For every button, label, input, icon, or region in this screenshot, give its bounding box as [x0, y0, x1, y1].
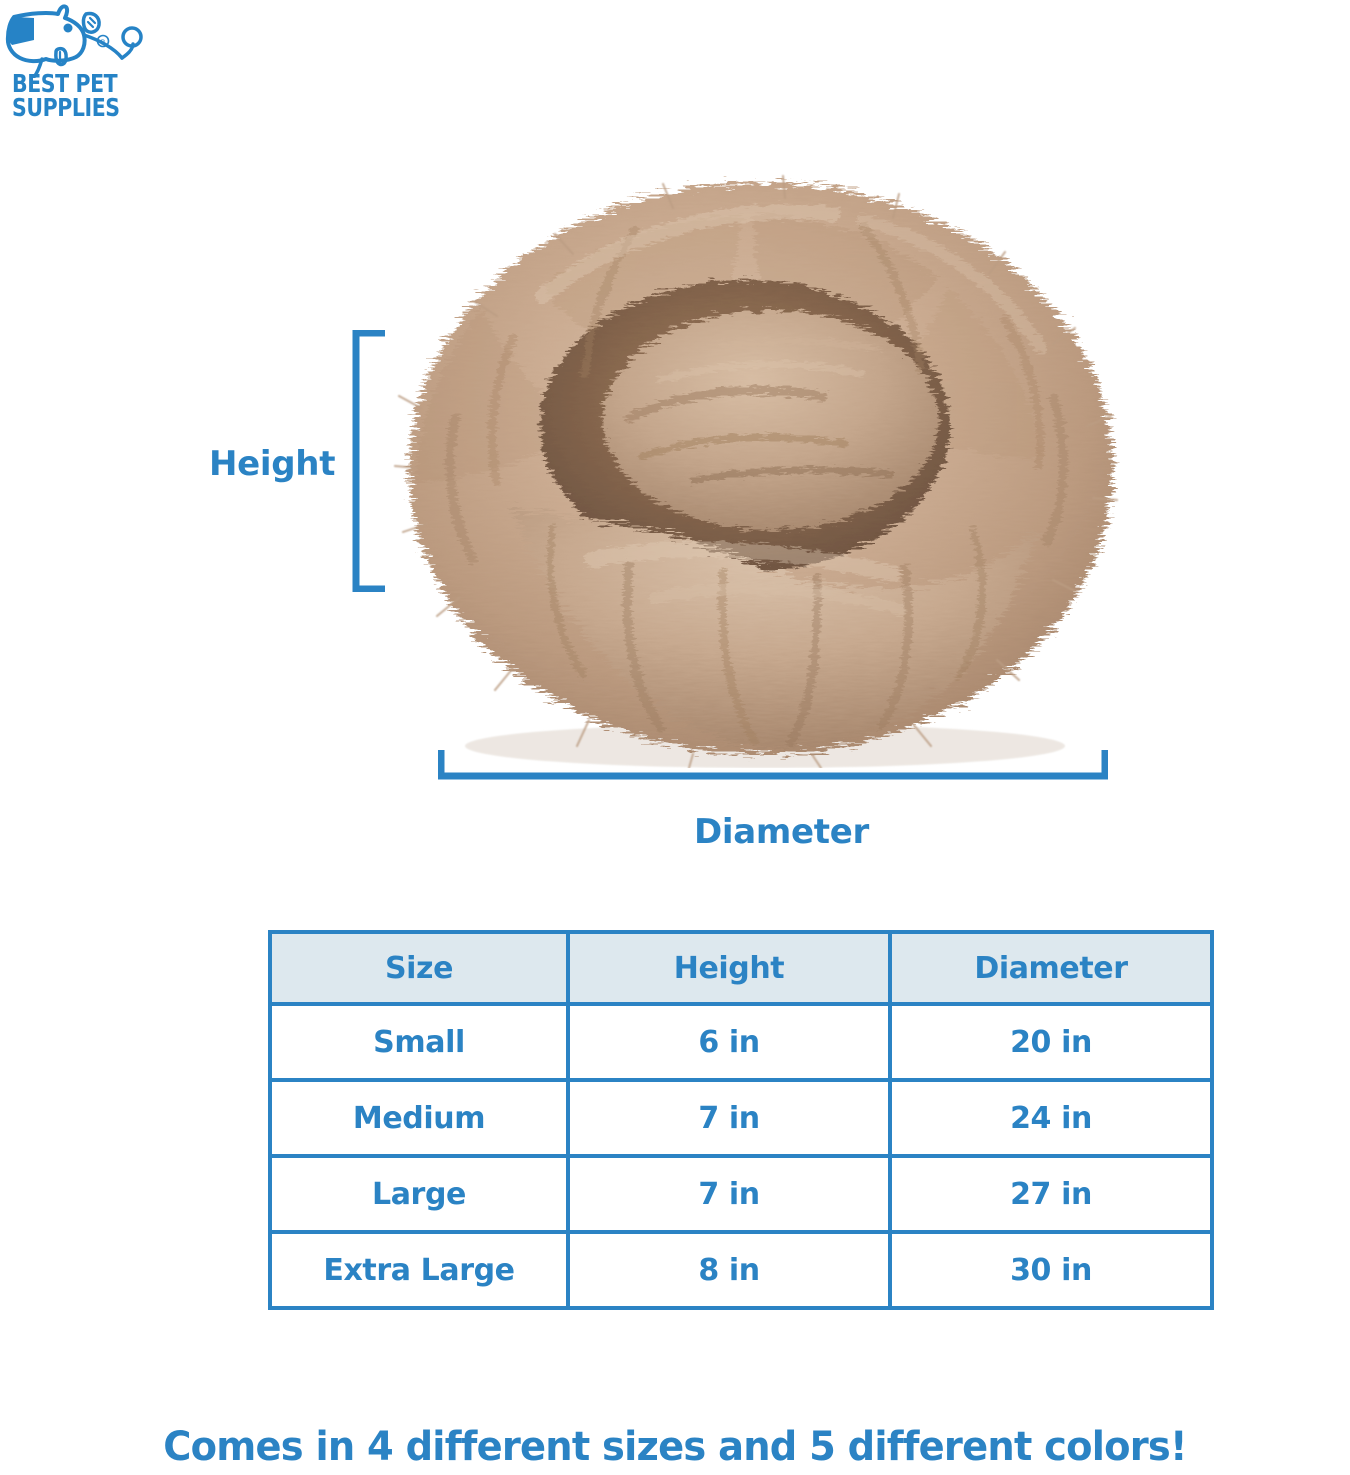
- height-bracket: [352, 330, 388, 592]
- svg-text:R: R: [101, 39, 106, 47]
- table-row: Medium 7 in 24 in: [270, 1080, 1212, 1156]
- cell-height: 8 in: [568, 1232, 890, 1308]
- cell-size: Extra Large: [270, 1232, 568, 1308]
- table-row: Extra Large 8 in 30 in: [270, 1232, 1212, 1308]
- cell-diameter: 20 in: [890, 1004, 1212, 1080]
- brand-wordmark: BEST PETSUPPLIES: [12, 72, 120, 119]
- footer-tagline: Comes in 4 different sizes and 5 differe…: [27, 1424, 1323, 1470]
- infographic-page: R BEST PETSUPPLIES: [0, 0, 1350, 1475]
- size-chart-table: Size Height Diameter Small 6 in 20 in Me…: [268, 930, 1214, 1310]
- height-label: Height: [209, 444, 335, 484]
- brand-line-2: SUPPLIES: [12, 93, 120, 122]
- cell-diameter: 30 in: [890, 1232, 1212, 1308]
- table-row: Large 7 in 27 in: [270, 1156, 1212, 1232]
- cell-diameter: 27 in: [890, 1156, 1212, 1232]
- product-image-pet-bed: [393, 168, 1129, 768]
- cell-size: Large: [270, 1156, 568, 1232]
- column-header-diameter: Diameter: [890, 932, 1212, 1004]
- column-header-size: Size: [270, 932, 568, 1004]
- diameter-label: Diameter: [694, 812, 869, 852]
- brand-logo: R BEST PETSUPPLIES: [4, 4, 184, 132]
- table-row: Small 6 in 20 in: [270, 1004, 1212, 1080]
- cell-height: 7 in: [568, 1156, 890, 1232]
- cell-height: 7 in: [568, 1080, 890, 1156]
- cell-size: Medium: [270, 1080, 568, 1156]
- cell-size: Small: [270, 1004, 568, 1080]
- cell-diameter: 24 in: [890, 1080, 1212, 1156]
- table-header-row: Size Height Diameter: [270, 932, 1212, 1004]
- column-header-height: Height: [568, 932, 890, 1004]
- cell-height: 6 in: [568, 1004, 890, 1080]
- diameter-bracket: [438, 748, 1108, 780]
- dog-mascot-icon: R: [4, 4, 154, 78]
